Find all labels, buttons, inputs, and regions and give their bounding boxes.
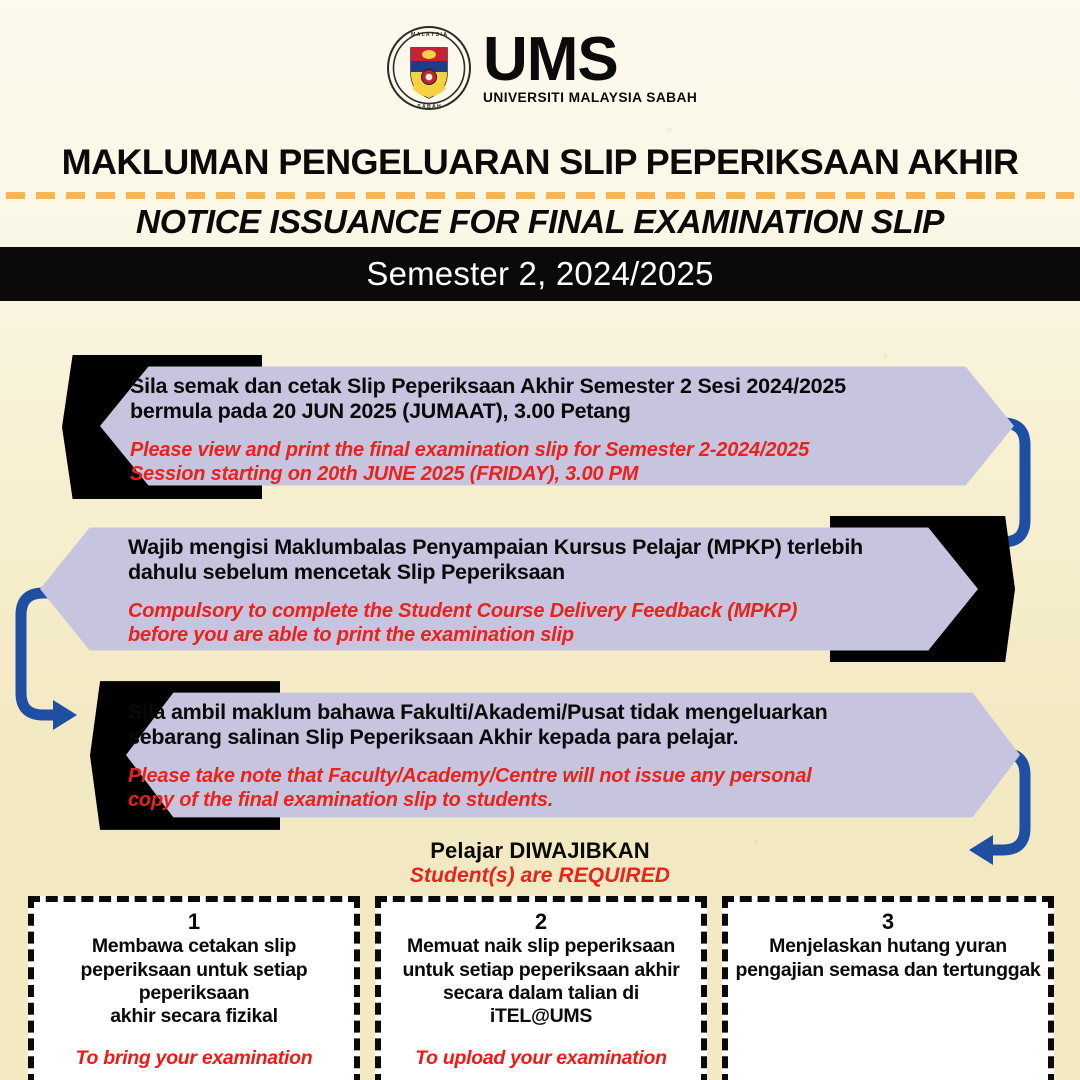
- semester-bar: Semester 2, 2024/2025: [0, 247, 1080, 301]
- callout-1-text: Sila semak dan cetak Slip Peperiksaan Ak…: [130, 374, 1010, 486]
- card-1-number: 1: [40, 910, 348, 934]
- dashed-divider: [6, 192, 1074, 199]
- callout-2-ms-line-2: dahulu sebelum mencetak Slip Peperiksaan: [128, 560, 1008, 585]
- callout-3-en-line-2: copy of the final examination slip to st…: [128, 788, 998, 812]
- requirement-card-2: 2 Memuat naik slip peperiksaan untuk set…: [375, 896, 707, 1080]
- ums-crest-icon: M A L A Y S I A S A B A H: [387, 24, 471, 112]
- card-2-text-english: To upload your examination: [387, 1047, 695, 1070]
- requirement-card-3: 3 Menjelaskan hutang yuran pengajian sem…: [722, 896, 1054, 1080]
- card-1-text-english: To bring your examination: [40, 1047, 348, 1070]
- callout-3-text: Sila ambil maklum bahawa Fakulti/Akademi…: [128, 700, 998, 812]
- poster-canvas: M A L A Y S I A S A B A H UMS UNIVERSITI…: [0, 0, 1080, 1080]
- semester-label: Semester 2, 2024/2025: [366, 255, 713, 293]
- callout-box-1: Sila semak dan cetak Slip Peperiksaan Ak…: [62, 352, 1014, 502]
- callout-2-en-line-1: Compulsory to complete the Student Cours…: [128, 599, 1008, 623]
- svg-text:M A L A Y S I A: M A L A Y S I A: [411, 32, 447, 38]
- callout-2-en-line-2: before you are able to print the examina…: [128, 623, 1008, 647]
- required-heading-malay: Pelajar DIWAJIBKAN: [0, 838, 1080, 864]
- card-3-text-malay: Menjelaskan hutang yuran pengajian semas…: [734, 935, 1042, 982]
- callout-1-en-line-2: Session starting on 20th JUNE 2025 (FRID…: [130, 462, 1010, 486]
- wordmark-subtext: UNIVERSITI MALAYSIA SABAH: [483, 90, 697, 105]
- required-heading-english: Student(s) are REQUIRED: [0, 864, 1080, 888]
- callout-1-en-line-1: Please view and print the final examinat…: [130, 438, 1010, 462]
- ums-wordmark: UMS UNIVERSITI MALAYSIA SABAH: [483, 31, 693, 105]
- callout-box-3: Sila ambil maklum bahawa Fakulti/Akademi…: [90, 678, 1020, 833]
- requirement-card-1: 1 Membawa cetakan slip peperiksaan untuk…: [28, 896, 360, 1080]
- wordmark-text: UMS: [483, 31, 618, 88]
- card-1-text-malay: Membawa cetakan slip peperiksaan untuk s…: [40, 935, 348, 1029]
- callout-2-ms-line-1: Wajib mengisi Maklumbalas Penyampaian Ku…: [128, 535, 1008, 560]
- callout-3-ms-line-1: Sila ambil maklum bahawa Fakulti/Akademi…: [128, 700, 998, 725]
- page-title-english: NOTICE ISSUANCE FOR FINAL EXAMINATION SL…: [0, 203, 1080, 241]
- card-3-number: 3: [734, 910, 1042, 934]
- card-2-number: 2: [387, 910, 695, 934]
- card-2-text-malay: Memuat naik slip peperiksaan untuk setia…: [387, 935, 695, 1029]
- callout-box-2: Wajib mengisi Maklumbalas Penyampaian Ku…: [40, 513, 1015, 665]
- page-title-malay: MAKLUMAN PENGELUARAN SLIP PEPERIKSAAN AK…: [0, 143, 1080, 183]
- callout-3-en-line-1: Please take note that Faculty/Academy/Ce…: [128, 764, 998, 788]
- callout-3-ms-line-2: sebarang salinan Slip Peperiksaan Akhir …: [128, 725, 998, 750]
- svg-text:S A B A H: S A B A H: [417, 104, 441, 110]
- callout-1-ms-line-2: bermula pada 20 JUN 2025 (JUMAAT), 3.00 …: [130, 399, 1010, 424]
- callout-1-ms-line-1: Sila semak dan cetak Slip Peperiksaan Ak…: [130, 374, 1010, 399]
- required-heading: Pelajar DIWAJIBKAN Student(s) are REQUIR…: [0, 838, 1080, 888]
- ums-logo: M A L A Y S I A S A B A H UMS UNIVERSITI…: [0, 18, 1080, 118]
- callout-2-text: Wajib mengisi Maklumbalas Penyampaian Ku…: [128, 535, 1008, 647]
- requirement-cards: 1 Membawa cetakan slip peperiksaan untuk…: [28, 896, 1054, 1080]
